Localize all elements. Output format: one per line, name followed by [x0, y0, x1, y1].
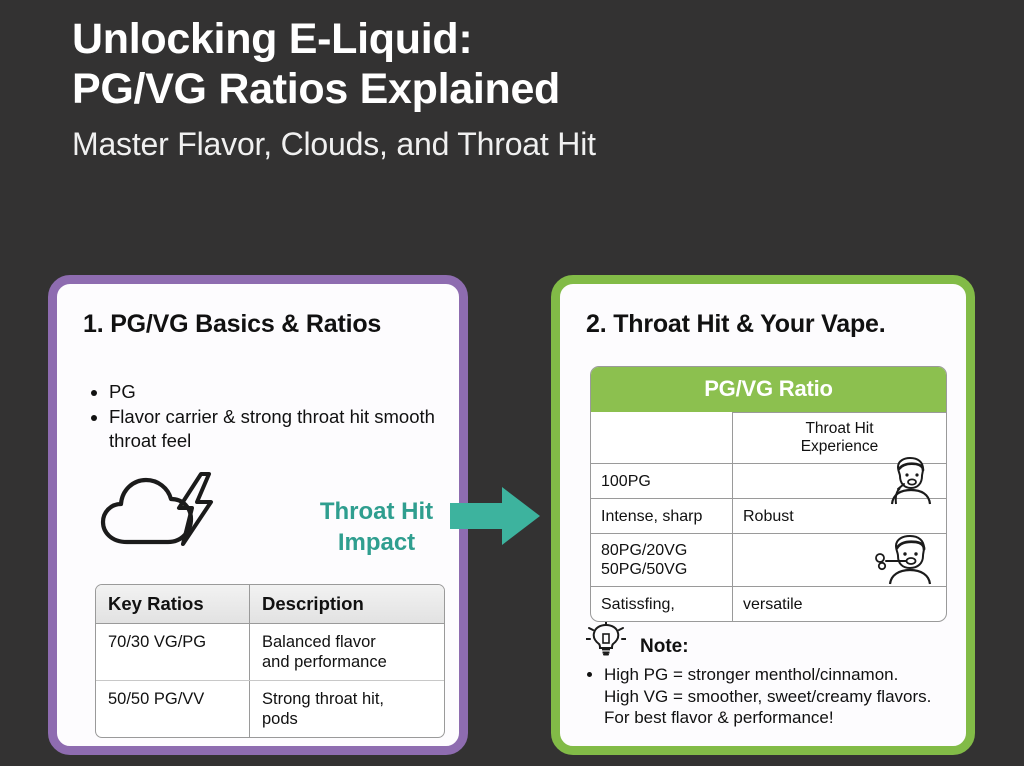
table-row: Satissfing, versatile	[591, 587, 946, 622]
column-header-description: Description	[250, 585, 445, 624]
subheader-line-1: Throat Hit	[743, 420, 936, 438]
table-row: 100PG	[591, 464, 946, 499]
table-row: 50/50 PG/VV Strong throat hit, pods	[96, 681, 444, 738]
list-item: Flavor carrier & strong throat hit smoot…	[109, 405, 445, 453]
note-header: Note:	[586, 622, 958, 660]
impact-label-line-1: Throat Hit	[289, 496, 464, 527]
cell-description-line-1: Strong throat hit,	[262, 689, 432, 709]
list-item: High PG = stronger menthol/cinnamon. Hig…	[604, 664, 958, 729]
subheader-line-2: Experience	[743, 438, 936, 456]
cell-description-line-1: Balanced flavor	[262, 632, 432, 652]
pgvg-ratio-table: PG/VG Ratio Throat Hit Experience 100PG	[590, 366, 947, 622]
card-pgvg-basics: 1. PG/VG Basics & Ratios PG Flavor carri…	[48, 275, 468, 755]
slide: Unlocking E-Liquid: PG/VG Ratios Explain…	[0, 0, 1024, 766]
right-arrow-icon	[450, 485, 542, 547]
title-line-1: Unlocking E-Liquid:	[72, 14, 952, 64]
throat-hit-impact-label: Throat Hit Impact	[289, 496, 464, 558]
note-title: Note:	[640, 636, 689, 658]
card-throat-hit: 2. Throat Hit & Your Vape. PG/VG Ratio T…	[551, 275, 975, 755]
table-row: 70/30 VG/PG Balanced flavor and performa…	[96, 624, 444, 681]
cell-ratio: Satissfing,	[591, 587, 733, 622]
impact-label-line-2: Impact	[289, 527, 464, 558]
column-header-key-ratios: Key Ratios	[96, 585, 250, 624]
table-header-row: Key Ratios Description	[96, 585, 444, 624]
note-body: High PG = stronger menthol/cinnamon. Hig…	[586, 664, 958, 729]
title-line-2: PG/VG Ratios Explained	[72, 64, 952, 114]
cell-experience	[733, 464, 947, 499]
cell-description-line-2: and performance	[262, 652, 432, 672]
person-vaping-cloud-icon	[870, 534, 940, 586]
left-card-title: 1. PG/VG Basics & Ratios	[83, 310, 381, 339]
cell-experience: versatile	[733, 587, 947, 622]
cell-description: Strong throat hit, pods	[250, 681, 445, 738]
table-row: 80PG/20VG 50PG/50VG	[591, 534, 946, 587]
cell-ratio: Intense, sharp	[591, 499, 733, 534]
cell-ratio: 80PG/20VG 50PG/50VG	[591, 534, 733, 587]
cell-ratio-line-2: 50PG/50VG	[601, 560, 722, 579]
cloud-lightning-icon	[97, 472, 217, 550]
cell-experience: Robust	[733, 499, 947, 534]
cell-description-line-2: pods	[262, 709, 432, 729]
key-ratios-table: Key Ratios Description 70/30 VG/PG Balan…	[95, 584, 445, 738]
note-block: Note: High PG = stronger menthol/cinnamo…	[586, 622, 958, 729]
right-card-title: 2. Throat Hit & Your Vape.	[586, 310, 886, 339]
cell-ratio: 100PG	[591, 464, 733, 499]
table-row: Intense, sharp Robust	[591, 499, 946, 534]
note-line-3: For best flavor & performance!	[604, 707, 958, 729]
table-title-pgvg-ratio: PG/VG Ratio	[591, 367, 946, 412]
slide-subtitle: Master Flavor, Clouds, and Throat Hit	[72, 124, 952, 164]
note-line-1: High PG = stronger menthol/cinnamon.	[604, 664, 958, 686]
subheader-cell-blank	[591, 413, 733, 464]
cell-experience	[733, 534, 947, 587]
list-item: PG	[109, 380, 445, 404]
slide-header: Unlocking E-Liquid: PG/VG Ratios Explain…	[72, 14, 952, 164]
lightbulb-icon	[586, 622, 626, 660]
cell-description: Balanced flavor and performance	[250, 624, 445, 681]
cell-ratio: 50/50 PG/VV	[96, 681, 250, 738]
cell-ratio: 70/30 VG/PG	[96, 624, 250, 681]
note-line-2: High VG = smoother, sweet/creamy flavors…	[604, 686, 958, 708]
cell-ratio-line-1: 80PG/20VG	[601, 541, 722, 560]
left-card-bullets: PG Flavor carrier & strong throat hit sm…	[85, 380, 445, 454]
